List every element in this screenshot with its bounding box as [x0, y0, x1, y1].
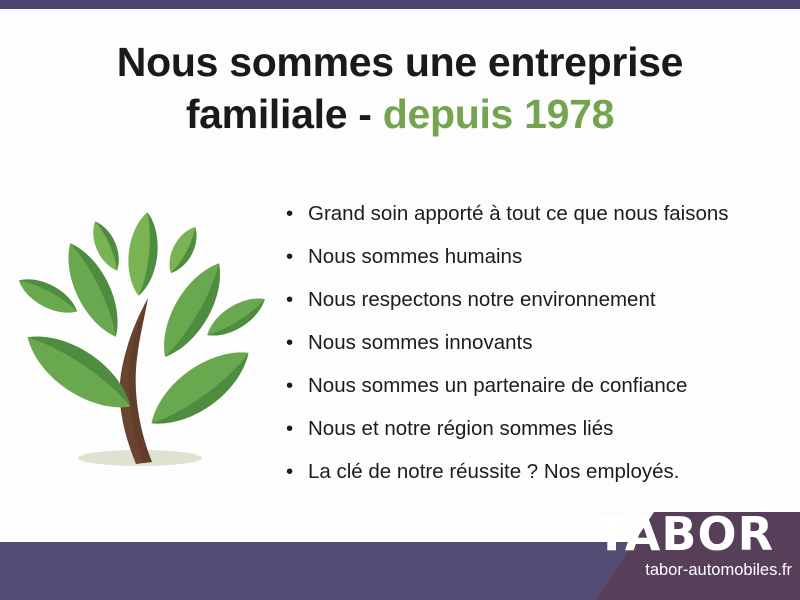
- title-line-2-plain: familiale -: [186, 91, 383, 137]
- list-item: Nous sommes humains: [286, 235, 786, 278]
- list-item: Nous respectons notre environnement: [286, 278, 786, 321]
- leaf-upper-left: [55, 236, 130, 344]
- list-item: Grand soin apporté à tout ce que nous fa…: [286, 192, 786, 235]
- list-item: Nous sommes un partenaire de confiance: [286, 364, 786, 407]
- tree-illustration: [12, 192, 268, 488]
- leaf-lower-right-large: [140, 336, 261, 439]
- list-item: La clé de notre réussite ? Nos employés.: [286, 450, 786, 493]
- title-line-2-accent: depuis 1978: [383, 91, 614, 137]
- title-line-1: Nous sommes une entreprise: [117, 39, 683, 85]
- brand-wordmark: TABOR: [596, 511, 792, 557]
- list-item: Nous et notre région sommes liés: [286, 407, 786, 450]
- slide-canvas: Nous sommes une entreprise familiale - d…: [0, 0, 800, 600]
- page-title: Nous sommes une entreprise familiale - d…: [60, 36, 740, 140]
- leaf-upper-right: [150, 255, 234, 366]
- bullet-list: Grand soin apporté à tout ce que nous fa…: [286, 192, 786, 493]
- brand-tagline: tabor-automobiles.fr: [596, 561, 792, 579]
- list-item: Nous sommes innovants: [286, 321, 786, 364]
- leaf-top-right-small: [162, 222, 204, 277]
- top-accent-band: [0, 0, 800, 9]
- leaf-top-center: [124, 211, 161, 298]
